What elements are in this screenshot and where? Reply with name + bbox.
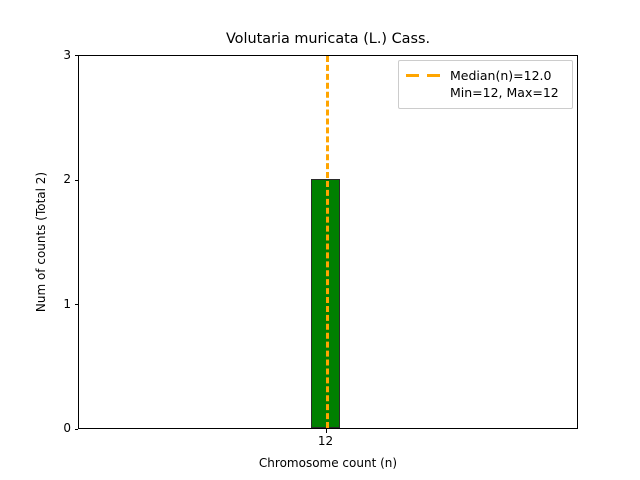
- dashed-line-icon: [406, 67, 442, 83]
- y-tick-label-2: 2: [54, 173, 71, 185]
- figure-canvas: Volutaria muricata (L.) Cass. 0 1 2 3 12…: [0, 0, 640, 480]
- legend-entry-median: Median(n)=12.0 Min=12, Max=12: [406, 67, 565, 101]
- plot-area: [78, 55, 578, 429]
- y-tick-mark-0: [75, 429, 79, 430]
- y-tick-mark-2: [75, 180, 79, 181]
- x-tick-mark-12: [326, 429, 327, 433]
- legend-line-median: Median(n)=12.0: [450, 68, 551, 83]
- plot-inner: [79, 56, 577, 428]
- y-tick-label-0: 0: [54, 422, 71, 434]
- y-tick-label-1: 1: [54, 298, 71, 310]
- legend-entry-text: Median(n)=12.0 Min=12, Max=12: [450, 67, 559, 101]
- y-axis-title: Num of counts (Total 2): [34, 55, 48, 429]
- x-tick-label-12: 12: [306, 435, 346, 447]
- legend-line-minmax: Min=12, Max=12: [450, 85, 559, 100]
- median-line: [326, 56, 329, 428]
- y-tick-mark-1: [75, 304, 79, 305]
- y-tick-label-3: 3: [54, 49, 71, 61]
- legend: Median(n)=12.0 Min=12, Max=12: [398, 60, 573, 109]
- y-tick-mark-3: [75, 55, 79, 56]
- x-axis-title: Chromosome count (n): [78, 456, 578, 470]
- chart-title: Volutaria muricata (L.) Cass.: [78, 31, 578, 48]
